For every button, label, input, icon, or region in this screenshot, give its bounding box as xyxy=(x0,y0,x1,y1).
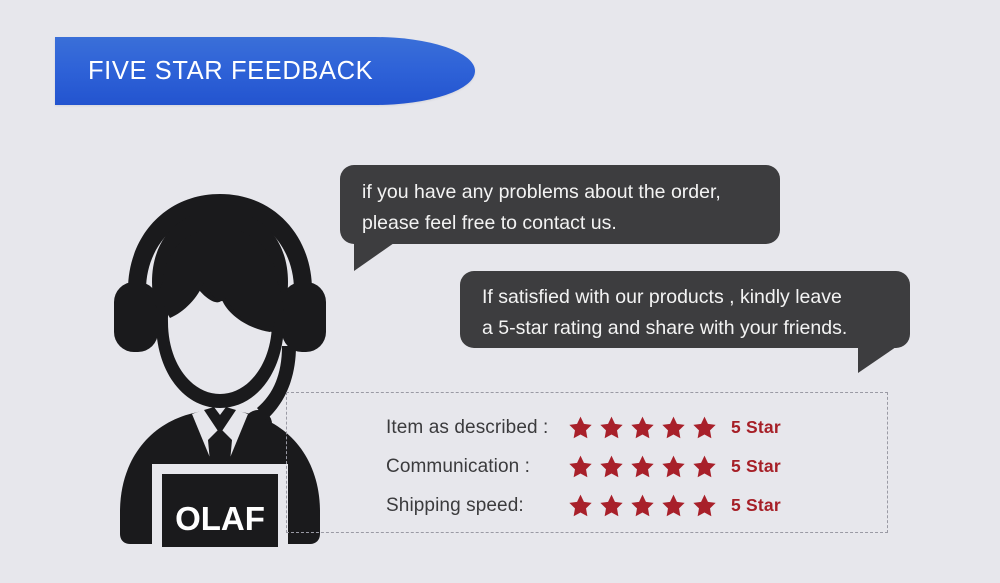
headset-earcup-left-icon xyxy=(114,282,158,352)
speech-bubble-rating-request-text: If satisfied with our products , kindly … xyxy=(482,282,892,344)
rating-row: Item as described : 5 Star xyxy=(386,408,856,447)
star-icon xyxy=(692,493,717,518)
speech-bubble-rating-request-tail-icon xyxy=(858,347,896,373)
speech-bubble-support-tail-icon xyxy=(354,243,394,271)
star-icon xyxy=(630,454,655,479)
star-icon xyxy=(630,493,655,518)
header-banner: FIVE STAR FEEDBACK xyxy=(55,37,475,105)
star-icon xyxy=(599,454,624,479)
rating-stars-item-as-described xyxy=(568,415,731,440)
star-icon xyxy=(568,454,593,479)
rating-value-shipping-speed: 5 Star xyxy=(731,495,781,516)
speech-bubble-rating-request: If satisfied with our products , kindly … xyxy=(460,271,910,348)
rating-value-communication: 5 Star xyxy=(731,456,781,477)
rating-row: Communication : 5 Star xyxy=(386,447,856,486)
speech-bubble-support-text: if you have any problems about the order… xyxy=(362,177,760,239)
rating-label-item-as-described: Item as described : xyxy=(386,417,568,439)
star-icon xyxy=(568,415,593,440)
headset-earcup-right-icon xyxy=(282,282,326,352)
star-icon xyxy=(661,493,686,518)
star-icon xyxy=(692,454,717,479)
speech-bubble-support: if you have any problems about the order… xyxy=(340,165,780,244)
agent-hair-front-icon xyxy=(162,228,278,332)
star-icon xyxy=(630,415,655,440)
star-icon xyxy=(599,493,624,518)
rating-stars-shipping-speed xyxy=(568,493,731,518)
ratings-list: Item as described : 5 Star Communication… xyxy=(386,408,856,525)
feedback-banner-page: FIVE STAR FEEDBACK xyxy=(0,0,1000,583)
rating-row: Shipping speed: 5 Star xyxy=(386,486,856,525)
rating-stars-communication xyxy=(568,454,731,479)
star-icon xyxy=(661,415,686,440)
star-icon xyxy=(599,415,624,440)
star-icon xyxy=(568,493,593,518)
rating-label-shipping-speed: Shipping speed: xyxy=(386,495,568,517)
agent-screen-label: OLAF xyxy=(175,500,265,537)
rating-value-item-as-described: 5 Star xyxy=(731,417,781,438)
star-icon xyxy=(661,454,686,479)
page-title: FIVE STAR FEEDBACK xyxy=(88,37,373,105)
rating-label-communication: Communication : xyxy=(386,456,568,478)
star-icon xyxy=(692,415,717,440)
